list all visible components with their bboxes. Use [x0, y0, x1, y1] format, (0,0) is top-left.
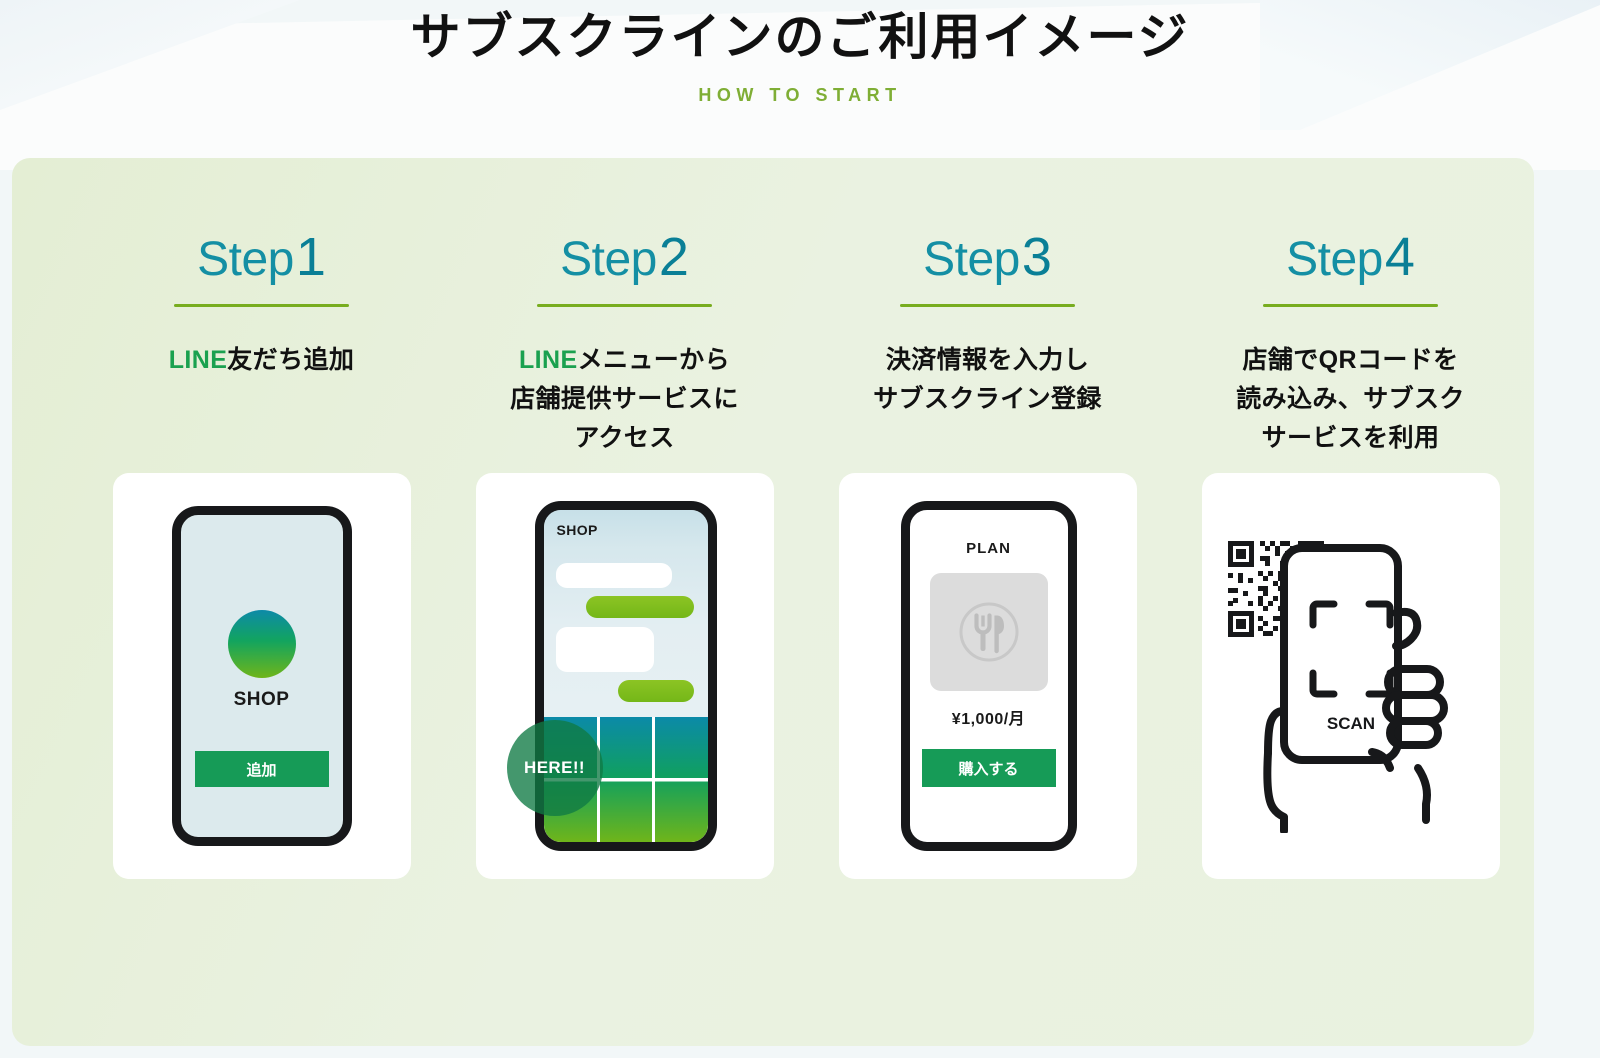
illustration-card-1: SHOP 追加 — [113, 473, 411, 879]
steps-panel: Step1 LINE友だち追加 SHOP 追加 Step2 LINEメニューから — [12, 158, 1534, 1046]
step-caption-1: LINE友だち追加 — [169, 341, 355, 465]
step-caption-line: 店舗でQRコードを — [1236, 341, 1465, 380]
cutlery-icon — [953, 596, 1025, 668]
steps-row: Step1 LINE友だち追加 SHOP 追加 Step2 LINEメニューから — [12, 158, 1534, 1046]
phone-mockup-add-friend: SHOP 追加 — [172, 506, 352, 846]
chat-bubble-white — [556, 627, 654, 672]
illustration-card-3: PLAN ¥1,000/月 購入する — [839, 473, 1137, 879]
step-word-3: Step — [923, 236, 1020, 284]
step-number-2: 2 — [659, 230, 689, 284]
step-column-3: Step3 決済情報を入力し サブスクライン登録 PLAN — [806, 158, 1169, 1046]
step-caption-line: LINE友だち追加 — [169, 341, 355, 380]
step-word-1: Step — [197, 236, 294, 284]
step-rule-3 — [900, 304, 1075, 307]
plan-price: ¥1,000/月 — [952, 705, 1025, 729]
step-caption-4: 店舗でQRコードを 読み込み、サブスク サービスを利用 — [1236, 341, 1465, 465]
caption-text: 友だち追加 — [227, 346, 354, 374]
shop-logo-icon — [228, 610, 296, 678]
rich-menu-cell[interactable] — [600, 782, 652, 843]
hand-holding-phone-scan-illustration: SCAN — [1220, 533, 1482, 833]
step-caption-3: 決済情報を入力し サブスクライン登録 — [873, 341, 1102, 465]
step-column-4: Step4 店舗でQRコードを 読み込み、サブスク サービスを利用 — [1169, 158, 1532, 1046]
step-heading-2: Step2 — [560, 230, 689, 284]
step-caption-2: LINEメニューから 店舗提供サービスに アクセス — [510, 341, 739, 465]
page-title: サブスクラインのご利用イメージ — [0, 0, 1600, 69]
step-number-3: 3 — [1022, 230, 1052, 284]
step-rule-4 — [1263, 304, 1438, 307]
step-caption-line: 読み込み、サブスク — [1236, 380, 1465, 419]
step-caption-line: 店舗提供サービスに — [510, 380, 739, 419]
caption-text: メニューから — [578, 346, 730, 374]
plan-header-label: PLAN — [966, 540, 1011, 557]
scan-screen-label: SCAN — [1326, 714, 1374, 733]
step-rule-1 — [174, 304, 349, 307]
step-heading-4: Step4 — [1286, 230, 1415, 284]
step-column-1: Step1 LINE友だち追加 SHOP 追加 — [80, 158, 443, 1046]
step-word-2: Step — [560, 236, 657, 284]
chat-bubble-white — [556, 563, 672, 588]
step-heading-3: Step3 — [923, 230, 1052, 284]
caption-highlight: LINE — [519, 346, 578, 374]
plan-thumbnail — [930, 573, 1048, 691]
add-friend-button[interactable]: 追加 — [195, 751, 329, 787]
step-number-1: 1 — [296, 230, 326, 284]
phone-mockup-plan: PLAN ¥1,000/月 購入する — [901, 501, 1077, 851]
step-word-4: Step — [1286, 236, 1383, 284]
purchase-button[interactable]: 購入する — [922, 749, 1056, 787]
step-caption-line: サブスクライン登録 — [873, 380, 1102, 419]
page-header: サブスクラインのご利用イメージ HOW TO START — [0, 0, 1600, 106]
rich-menu-cell[interactable] — [656, 717, 708, 778]
here-pointer-badge: HERE!! — [507, 720, 603, 816]
rich-menu-cell[interactable] — [600, 717, 652, 778]
step-number-4: 4 — [1385, 230, 1415, 284]
step-caption-line: 決済情報を入力し — [873, 341, 1102, 380]
phone-chat-area — [544, 550, 708, 715]
step-caption-line: LINEメニューから — [510, 341, 739, 380]
page-subtitle: HOW TO START — [0, 69, 1600, 106]
step-caption-line: アクセス — [510, 419, 739, 458]
caption-highlight: LINE — [169, 346, 228, 374]
step-heading-1: Step1 — [197, 230, 326, 284]
shop-logo-label: SHOP — [234, 689, 290, 711]
chat-bubble-green — [586, 596, 694, 618]
illustration-card-4: SCAN — [1202, 473, 1500, 879]
step-column-2: Step2 LINEメニューから 店舗提供サービスに アクセス SHOP — [443, 158, 806, 1046]
chat-bubble-green — [618, 680, 694, 702]
illustration-card-2: SHOP HERE — [476, 473, 774, 879]
step-caption-line: サービスを利用 — [1236, 419, 1465, 458]
rich-menu-cell[interactable] — [656, 782, 708, 843]
phone-menu-header-label: SHOP — [544, 510, 708, 550]
step-rule-2 — [537, 304, 712, 307]
